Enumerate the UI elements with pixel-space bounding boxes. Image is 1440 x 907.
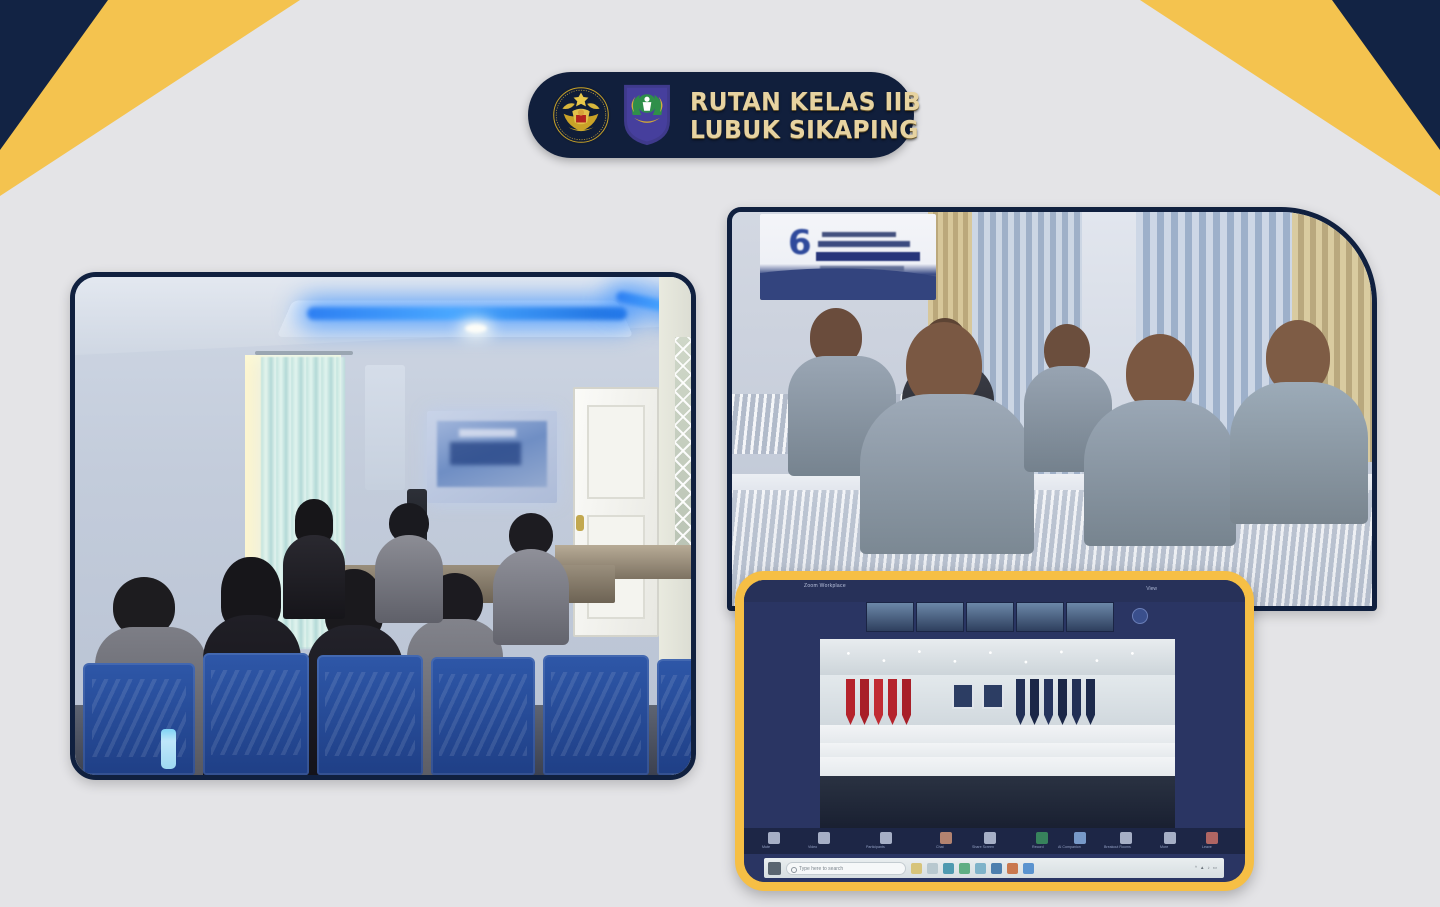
attendee-7: [283, 499, 345, 615]
tray-clock[interactable]: ▭: [1213, 866, 1217, 871]
curtain-rod: [255, 351, 353, 355]
banner-numeral: 6: [788, 226, 812, 260]
wall-panel: [365, 365, 405, 490]
participant-avatar-badge: [1132, 608, 1148, 624]
chair-1: [83, 663, 195, 775]
more-icon[interactable]: [1164, 832, 1176, 844]
participant-thumbnail: [966, 602, 1014, 632]
officers-scene: 6: [732, 212, 1372, 606]
participants-icon[interactable]: [880, 832, 892, 844]
zoom-toolbar[interactable]: Mute Video Participants Chat Share Scree…: [744, 828, 1245, 854]
leave-label: Leave: [1202, 846, 1212, 850]
ai-companion-icon[interactable]: [1074, 832, 1086, 844]
start-video-icon[interactable]: [818, 832, 830, 844]
participants-label: Participants: [866, 846, 885, 850]
explorer-icon[interactable]: [927, 863, 938, 874]
banner-text-line-3: [816, 252, 920, 261]
poster-canvas: RUTAN KELAS IIB LUBUK SIKAPING: [0, 0, 1440, 907]
window-grille: [675, 337, 696, 563]
header-title-line-2: LUBUK SIKAPING: [690, 117, 921, 142]
ai-companion-label: AI Companion: [1058, 846, 1081, 850]
tray-wifi-icon[interactable]: ▲: [1200, 866, 1204, 871]
record-label: Record: [1032, 846, 1044, 850]
official-portrait: [982, 683, 1004, 709]
banner-swoop: [760, 264, 936, 300]
taskbar-search-input[interactable]: Type here to search: [786, 862, 906, 875]
leave-icon[interactable]: [1206, 832, 1218, 844]
breakout-rooms-icon[interactable]: [1120, 832, 1132, 844]
photo-zoom-screen: Zoom Workplace View: [735, 571, 1254, 891]
attendee-5: [493, 513, 569, 645]
water-bottle: [161, 729, 176, 769]
record-icon[interactable]: [1036, 832, 1048, 844]
shared-video-feed: [820, 639, 1175, 850]
zoom-app-label: Zoom Workplace: [804, 583, 846, 590]
chrome-icon[interactable]: [959, 863, 970, 874]
chat-label: Chat: [936, 846, 944, 850]
windows-taskbar[interactable]: Type here to search ^ ▲ ♪ ▭: [764, 858, 1224, 878]
chair-6: [657, 659, 696, 775]
start-video-label: Video: [808, 846, 817, 850]
attendee-6: [375, 503, 443, 623]
door-handle: [576, 515, 584, 531]
header-title-line-1: RUTAN KELAS IIB: [690, 89, 921, 114]
hall-ceiling: [820, 639, 1175, 675]
chair-3: [317, 655, 423, 775]
ceiling-downlight: [465, 324, 487, 333]
blue-led-strip: [307, 307, 627, 320]
banner-text-line-2: [818, 241, 910, 247]
header-badge: RUTAN KELAS IIB LUBUK SIKAPING: [528, 72, 914, 158]
banner-text-line-1: [822, 232, 896, 237]
garuda-pancasila-emblem: [550, 84, 612, 146]
participant-thumbnail: [1066, 602, 1114, 632]
zoom-taskbar-icon[interactable]: [1023, 863, 1034, 874]
share-screen-label: Share Screen: [972, 846, 994, 850]
powerpoint-icon[interactable]: [1007, 863, 1018, 874]
officer-center-front: [860, 322, 1034, 552]
word-icon[interactable]: [991, 863, 1002, 874]
taskview-icon[interactable]: [911, 863, 922, 874]
zoom-view-label: View: [1146, 587, 1157, 592]
kemenimipas-shield-emblem: [618, 82, 676, 148]
photo-meeting-room: [70, 272, 696, 780]
share-screen-icon[interactable]: [984, 832, 996, 844]
tray-chevron-icon[interactable]: ^: [1195, 866, 1197, 871]
tray-volume-icon[interactable]: ♪: [1207, 866, 1209, 871]
official-portrait: [952, 683, 974, 709]
mute-icon[interactable]: [768, 832, 780, 844]
officer-right-2: [1084, 334, 1236, 542]
windows-start-icon[interactable]: [768, 862, 781, 875]
chair-5: [543, 655, 649, 775]
officer-right-3: [1230, 320, 1368, 520]
header-title: RUTAN KELAS IIB LUBUK SIKAPING: [690, 89, 936, 142]
participant-thumbnail: [1016, 602, 1064, 632]
mail-icon[interactable]: [975, 863, 986, 874]
mute-label: Mute: [762, 846, 770, 850]
event-banner: 6: [760, 214, 936, 300]
projector-screen: [427, 411, 557, 503]
breakout-rooms-label: Breakout Rooms: [1104, 846, 1131, 850]
chair-2: [203, 653, 309, 775]
chair-4: [431, 657, 535, 775]
participant-thumbnails: [866, 602, 1114, 632]
photo-officers-table: 6: [727, 207, 1377, 611]
participant-thumbnail: [916, 602, 964, 632]
edge-icon[interactable]: [943, 863, 954, 874]
meeting-room-scene: [75, 277, 691, 775]
more-label: More: [1160, 846, 1168, 850]
projector-screen-content: [437, 421, 547, 487]
chat-icon[interactable]: [940, 832, 952, 844]
system-tray[interactable]: ^ ▲ ♪ ▭: [1195, 866, 1220, 871]
zoom-screen-scene: Zoom Workplace View: [744, 580, 1245, 882]
participant-thumbnail: [866, 602, 914, 632]
